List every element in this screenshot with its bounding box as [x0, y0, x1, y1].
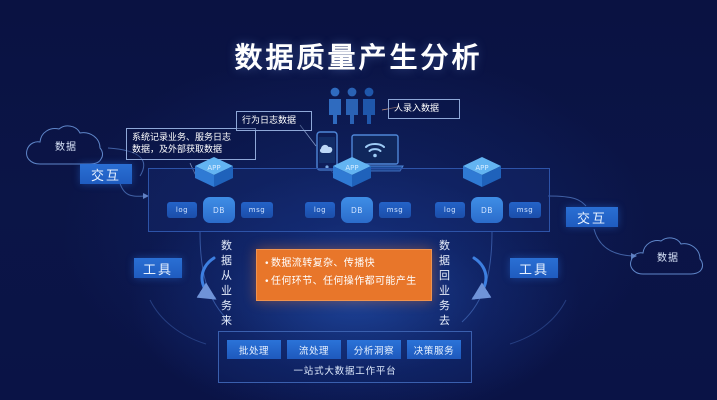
right-flow-label: 数据回业务去: [438, 238, 452, 328]
left-flow-label: 数据从业务来: [220, 238, 234, 328]
callout-box: • 数据流转复杂、传播快 • 任何环节、任何操作都可能产生: [256, 249, 432, 301]
tag-log: log: [167, 202, 197, 218]
app-cube-icon: APP: [329, 155, 375, 189]
tag-msg: msg: [379, 202, 411, 218]
person-icon: [329, 88, 341, 124]
svg-text:APP: APP: [475, 164, 488, 172]
right-cloud-label: 数据: [626, 249, 710, 264]
callout-bullet: • 任何环节、任何操作都可能产生: [263, 273, 425, 291]
platform-button-analysis[interactable]: 分析洞察: [347, 340, 401, 359]
tag-log: log: [435, 202, 465, 218]
app-cube-icon: APP: [459, 155, 505, 189]
left-interact-button[interactable]: 交互: [80, 164, 132, 184]
slide-canvas: 数据质量产生分析 数据 交互 系统记录业务、服务日志 数据，及外部获取数据 行为…: [0, 0, 717, 400]
app-column: APP log DB msg: [159, 169, 279, 231]
page-title: 数据质量产生分析: [0, 36, 717, 76]
tag-msg: msg: [241, 202, 273, 218]
svg-text:APP: APP: [345, 164, 358, 172]
behavior-log-note: 行为日志数据: [236, 111, 312, 131]
callout-bullet-text: 任何环节、任何操作都可能产生: [271, 273, 417, 291]
app-column: APP log DB msg: [427, 169, 547, 231]
person-icon: [363, 88, 375, 124]
callout-bullet-text: 数据流转复杂、传播快: [271, 255, 375, 273]
left-cloud-label: 数据: [22, 138, 110, 153]
left-data-cloud: 数据: [22, 122, 110, 170]
bullet-dot: •: [263, 273, 271, 291]
app-cube-icon: APP: [191, 155, 237, 189]
platform-button-batch[interactable]: 批处理: [227, 340, 281, 359]
platform-button-decision[interactable]: 决策服务: [407, 340, 461, 359]
platform-panel: 批处理 流处理 分析洞察 决策服务 一站式大数据工作平台: [218, 331, 472, 383]
person-icon: [346, 88, 358, 124]
tag-db: DB: [341, 197, 373, 223]
tag-log: log: [305, 202, 335, 218]
tag-db: DB: [471, 197, 503, 223]
right-data-cloud: 数据: [626, 234, 710, 280]
platform-caption: 一站式大数据工作平台: [219, 363, 471, 377]
app-column: APP log DB msg: [297, 169, 417, 231]
left-tool-button[interactable]: 工具: [134, 258, 182, 278]
right-tool-button[interactable]: 工具: [510, 258, 558, 278]
person-group: [326, 86, 390, 126]
right-interact-button[interactable]: 交互: [566, 207, 618, 227]
tag-msg: msg: [509, 202, 541, 218]
wifi-icon: [366, 144, 384, 151]
callout-bullet: • 数据流转复杂、传播快: [263, 255, 425, 273]
tag-db: DB: [203, 197, 235, 223]
platform-button-stream[interactable]: 流处理: [287, 340, 341, 359]
svg-text:APP: APP: [207, 164, 220, 172]
app-panel: APP log DB msg APP log DB msg APP: [148, 168, 550, 232]
bullet-dot: •: [263, 255, 271, 273]
manual-entry-note: 人录入数据: [388, 99, 460, 119]
